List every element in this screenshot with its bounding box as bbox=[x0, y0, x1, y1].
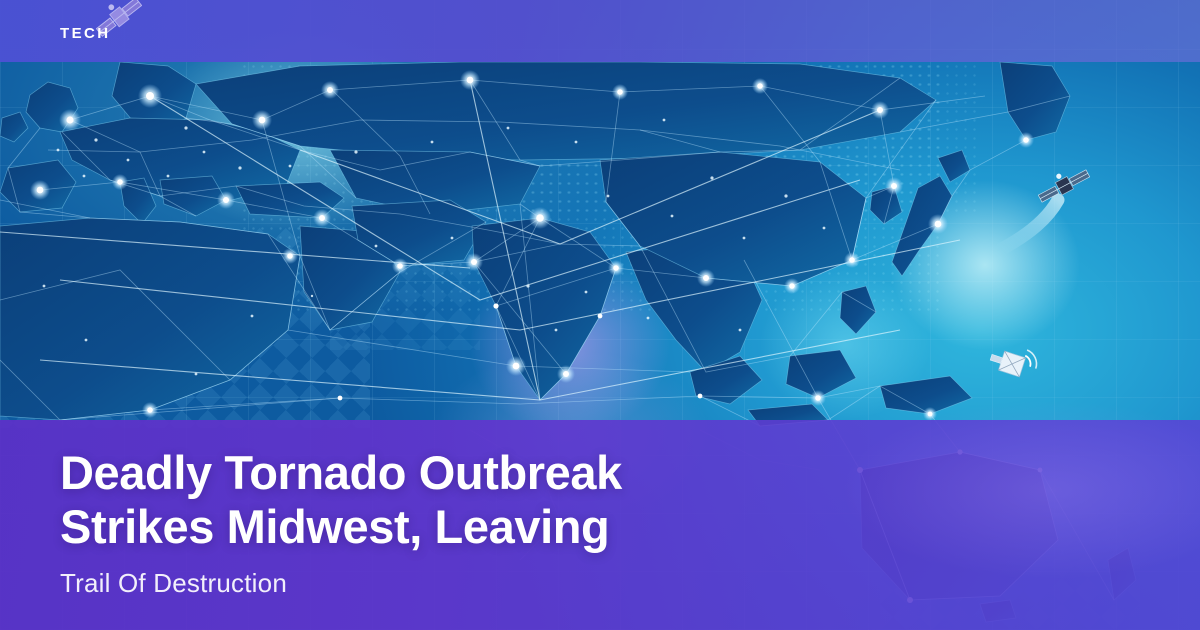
satellite-icon-upper-right bbox=[1000, 161, 1091, 250]
category-label[interactable]: TECH bbox=[60, 26, 110, 41]
headline-line-1: Deadly Tornado Outbreak bbox=[60, 446, 960, 500]
land-ireland bbox=[0, 112, 28, 142]
headline-line-2: Strikes Midwest, Leaving bbox=[60, 500, 960, 554]
land-north-africa bbox=[0, 218, 300, 420]
land-india bbox=[472, 218, 616, 400]
satellite-icon-lower-right bbox=[988, 340, 1040, 381]
social-share-card: TECH Deadly Tornado Outbreak Strikes Mid… bbox=[0, 0, 1200, 630]
headline-block: Deadly Tornado Outbreak Strikes Midwest,… bbox=[60, 446, 960, 598]
headline-subtitle: Trail Of Destruction bbox=[60, 568, 960, 598]
land-philippines bbox=[840, 286, 876, 334]
category-header-band bbox=[0, 0, 1200, 62]
land-russia bbox=[196, 62, 936, 160]
land-kamchatka bbox=[1000, 62, 1070, 140]
